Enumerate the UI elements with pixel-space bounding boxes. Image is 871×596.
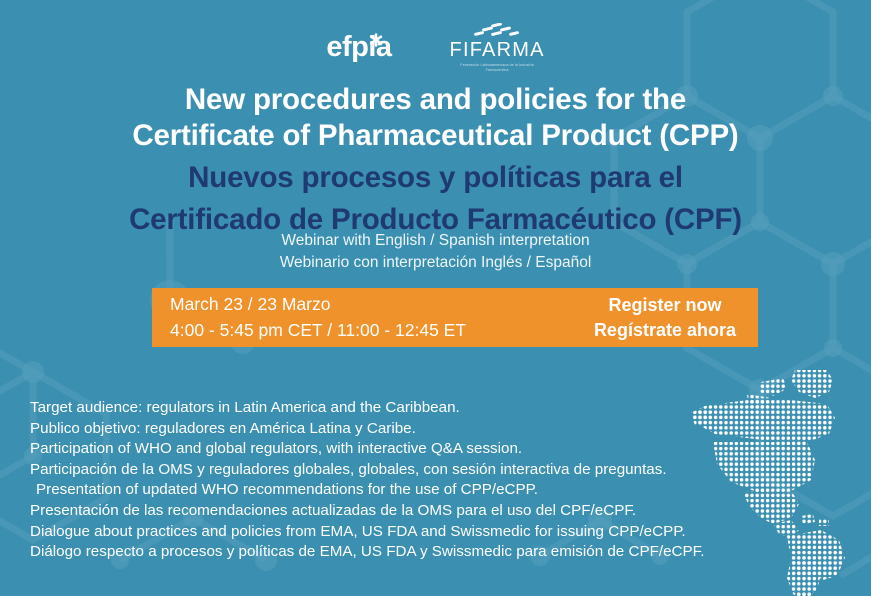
chevron-cluster-icon [474, 23, 520, 37]
event-date: March 23 / 23 Marzo [170, 292, 466, 317]
body-line: Presentation of updated WHO recommendati… [30, 480, 790, 501]
body-line: Presentación de las recomendaciones actu… [30, 501, 790, 522]
register-label-spanish: Regístrate ahora [594, 318, 736, 342]
title-english-line1: New procedures and policies for the [0, 82, 871, 118]
event-time: 4:00 - 5:45 pm CET / 11:00 - 12:45 ET [170, 318, 466, 343]
register-label-english: Register now [594, 293, 736, 317]
title-block: New procedures and policies for the Cert… [0, 82, 871, 238]
webinar-promo-banner: efpia FIFARMA Federación Latinoamericana… [0, 0, 871, 596]
asterisk-icon [369, 24, 383, 38]
title-english-line2: Certificate of Pharmaceutical Product (C… [0, 118, 871, 154]
event-datetime: March 23 / 23 Marzo 4:00 - 5:45 pm CET /… [170, 292, 466, 343]
subtitle-spanish: Webinario con interpretación Inglés / Es… [0, 252, 871, 274]
title-spanish-line1: Nuevos procesos y políticas para el [0, 160, 871, 196]
body-line: Target audience: regulators in Latin Ame… [30, 398, 790, 419]
fifarma-wordmark: FIFARMA [450, 40, 545, 60]
body-copy: Target audience: regulators in Latin Ame… [30, 398, 790, 563]
body-line: Diálogo respecto a procesos y políticas … [30, 542, 790, 563]
fifarma-logo: FIFARMA Federación Latinoamericana de la… [450, 22, 545, 73]
body-line: Dialogue about practices and policies fr… [30, 522, 790, 543]
body-line: Publico objetivo: reguladores en América… [30, 419, 790, 440]
subtitle-english: Webinar with English / Spanish interpret… [0, 230, 871, 252]
fifarma-subtitle: Federación Latinoamericana de la Industr… [460, 63, 534, 73]
efpia-logo: efpia [326, 22, 391, 62]
registration-cta-bar[interactable]: March 23 / 23 Marzo 4:00 - 5:45 pm CET /… [152, 288, 758, 347]
register-button[interactable]: Register now Regístrate ahora [594, 293, 736, 342]
interpretation-subtitle: Webinar with English / Spanish interpret… [0, 230, 871, 274]
body-line: Participation of WHO and global regulato… [30, 439, 790, 460]
body-line: Participación de la OMS y reguladores gl… [30, 460, 790, 481]
logo-row: efpia FIFARMA Federación Latinoamericana… [0, 22, 871, 73]
